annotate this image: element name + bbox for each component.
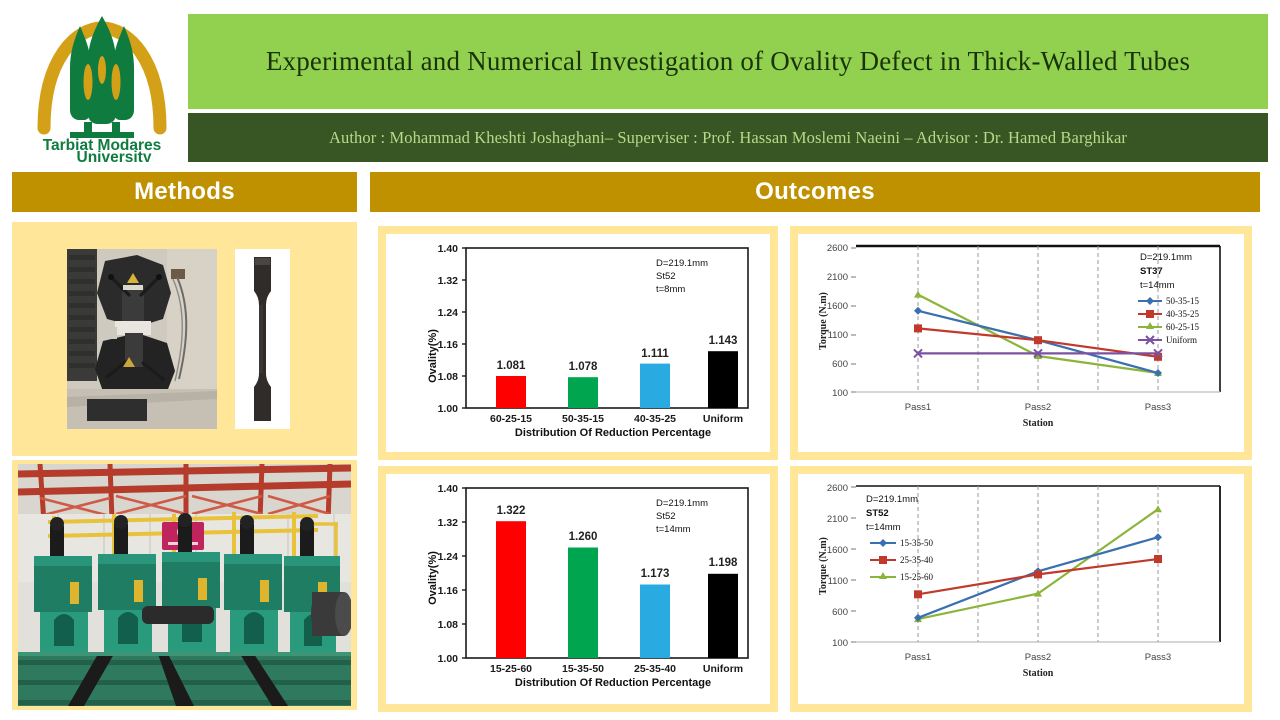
- poster-header: Tarbiat Modares University Experimental …: [0, 0, 1280, 165]
- ytick: 1.32: [438, 275, 459, 287]
- chart-panel-torque-st37: 2600 2100 1600 1100 600 100 Torque (N.m): [790, 226, 1252, 460]
- methods-column: [12, 222, 357, 710]
- bar: [496, 376, 526, 408]
- legend-label: 15-35-50: [900, 538, 933, 548]
- legend-label: 50-35-15: [1166, 296, 1199, 306]
- bar-value-label: 1.111: [641, 348, 669, 360]
- outcomes-column: 1.40 1.32 1.24 1.16 1.08 1.00 Ovality(%): [370, 222, 1260, 712]
- bar-value-label: 1.260: [569, 531, 598, 543]
- bar: [568, 377, 598, 408]
- ytick: 100: [832, 388, 848, 399]
- legend-label: 25-35-40: [900, 555, 933, 565]
- xtick: Pass1: [905, 652, 931, 663]
- chart-panel-torque-st52: 2600 2100 1600 1100 600 100 Torque (N.m): [790, 466, 1252, 712]
- ytick: 1.00: [438, 403, 459, 415]
- ytick: 1.40: [438, 483, 459, 495]
- ytick: 1.24: [438, 551, 459, 563]
- annotation: t=14mm: [866, 522, 901, 533]
- author-line: Author : Mohammad Kheshti Joshaghani– Su…: [329, 128, 1127, 148]
- page-title: Experimental and Numerical Investigation…: [252, 46, 1204, 78]
- y-axis-label: Ovality(%): [427, 329, 439, 383]
- section-header-outcomes: Outcomes: [370, 172, 1260, 212]
- legend-label: 15-25-60: [900, 572, 933, 582]
- annotation: t=14mm: [656, 524, 691, 535]
- bar: [640, 364, 670, 408]
- ytick: 1100: [828, 330, 848, 341]
- section-title-outcomes: Outcomes: [755, 178, 875, 206]
- tube-sizing-mill-photo: [18, 464, 351, 706]
- annotation: D=219.1mm: [1140, 252, 1192, 263]
- bar: [568, 548, 598, 659]
- tensile-test-machine-photo: [67, 249, 217, 429]
- ytick: 1600: [827, 545, 848, 556]
- chart-panel-ovality-t14: 1.40 1.32 1.24 1.16 1.08 1.00 Ovality(%): [378, 466, 778, 712]
- bar-value-label: 1.081: [497, 360, 526, 372]
- y-axis-label: Torque (N.m): [818, 292, 829, 350]
- title-banner: Experimental and Numerical Investigation…: [188, 14, 1268, 109]
- x-axis-label: Distribution Of Reduction Percentage: [515, 427, 711, 439]
- legend-item-uniform: Uniform: [1138, 335, 1197, 345]
- legend-item-25-35-40: 25-35-40: [870, 555, 933, 565]
- legend-label: 40-35-25: [1166, 309, 1199, 319]
- xtick: 40-35-25: [634, 413, 676, 425]
- xtick: 15-35-50: [562, 663, 604, 675]
- xtick: Pass3: [1145, 652, 1171, 663]
- ytick: 1.00: [438, 653, 459, 665]
- xtick: Pass3: [1145, 402, 1171, 413]
- annotation: St52: [656, 511, 676, 522]
- annotation: ST37: [1140, 266, 1163, 277]
- annotation: ST52: [866, 508, 889, 519]
- section-title-methods: Methods: [134, 178, 235, 206]
- dogbone-specimen-photo: [235, 249, 290, 429]
- methods-panel-top: [12, 222, 357, 456]
- ytick: 1.16: [438, 339, 459, 351]
- chart-ovality-t14: 1.40 1.32 1.24 1.16 1.08 1.00 Ovality(%): [378, 466, 778, 712]
- ytick: 1.40: [438, 243, 459, 255]
- bar-value-label: 1.198: [709, 557, 738, 569]
- ytick: 600: [832, 607, 848, 618]
- x-axis-label: Distribution Of Reduction Percentage: [515, 677, 711, 689]
- ytick: 100: [832, 638, 848, 649]
- xtick: Uniform: [703, 663, 743, 675]
- ytick: 1.32: [438, 517, 459, 529]
- methods-panel-bottom: [12, 460, 357, 710]
- bar-value-label: 1.078: [569, 361, 598, 373]
- poster-root: Tarbiat Modares University Experimental …: [0, 0, 1280, 720]
- y-axis-label: Ovality(%): [427, 551, 439, 605]
- author-banner: Author : Mohammad Kheshti Joshaghani– Su…: [188, 113, 1268, 162]
- xtick: Uniform: [703, 413, 743, 425]
- chart-torque-st52: 2600 2100 1600 1100 600 100 Torque (N.m): [790, 466, 1252, 712]
- y-axis-label: Torque (N.m): [818, 537, 829, 595]
- xtick: 50-35-15: [562, 413, 604, 425]
- section-header-methods: Methods: [12, 172, 357, 212]
- bar: [496, 521, 526, 658]
- chart-ovality-t8: 1.40 1.32 1.24 1.16 1.08 1.00 Ovality(%): [378, 226, 778, 460]
- annotation: t=14mm: [1140, 280, 1175, 291]
- bar-value-label: 1.322: [497, 505, 526, 517]
- ytick: 2100: [827, 514, 848, 525]
- x-axis-label: Station: [1023, 668, 1054, 679]
- bar: [708, 351, 738, 408]
- legend-label: Uniform: [1166, 335, 1197, 345]
- annotation: t=8mm: [656, 284, 685, 295]
- annotation: D=219.1mm: [656, 498, 708, 509]
- ytick: 1600: [827, 301, 848, 312]
- ytick: 1.08: [438, 619, 459, 631]
- logo-name-line2: University: [77, 149, 152, 162]
- chart-panel-ovality-t8: 1.40 1.32 1.24 1.16 1.08 1.00 Ovality(%): [378, 226, 778, 460]
- ytick: 600: [832, 359, 848, 370]
- ytick: 1.24: [438, 307, 459, 319]
- university-logo: Tarbiat Modares University: [22, 10, 182, 162]
- ytick: 2600: [827, 243, 848, 254]
- xtick: 15-25-60: [490, 663, 532, 675]
- xtick: Pass2: [1025, 402, 1051, 413]
- annotation: St52: [656, 271, 676, 282]
- bar: [708, 574, 738, 658]
- ytick: 1.08: [438, 371, 459, 383]
- xtick: Pass2: [1025, 652, 1051, 663]
- xtick: Pass1: [905, 402, 931, 413]
- chart-torque-st37: 2600 2100 1600 1100 600 100 Torque (N.m): [790, 226, 1252, 460]
- xtick: 25-35-40: [634, 663, 676, 675]
- annotation: D=219.1mm: [866, 494, 918, 505]
- ytick: 1100: [828, 576, 848, 587]
- ytick: 2600: [827, 483, 848, 494]
- bar: [640, 585, 670, 659]
- annotation: D=219.1mm: [656, 258, 708, 269]
- ytick: 2100: [827, 272, 848, 283]
- legend-item-40-35-25: 40-35-25: [1138, 309, 1199, 319]
- logo-graphic: Tarbiat Modares University: [22, 10, 182, 162]
- x-axis-label: Station: [1023, 418, 1054, 429]
- legend-label: 60-25-15: [1166, 322, 1199, 332]
- bar-value-label: 1.173: [641, 568, 670, 580]
- ytick: 1.16: [438, 585, 459, 597]
- bar-value-label: 1.143: [709, 335, 738, 347]
- xtick: 60-25-15: [490, 413, 532, 425]
